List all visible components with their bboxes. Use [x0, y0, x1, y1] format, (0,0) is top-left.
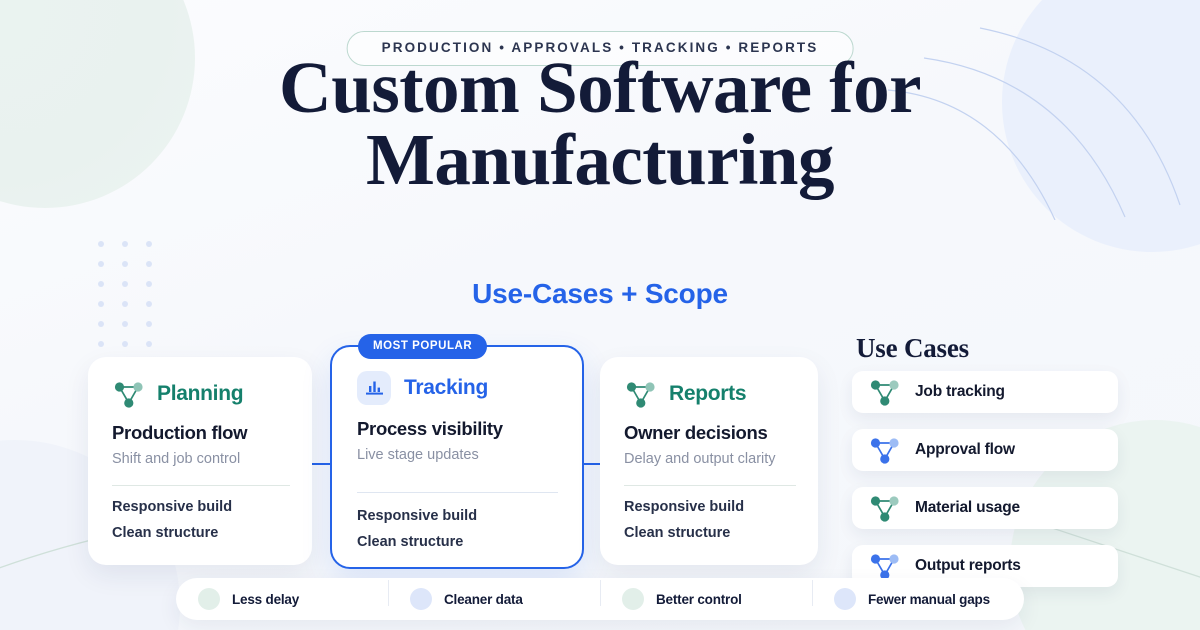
card-feature: Clean structure	[624, 525, 796, 541]
stage-card-reports[interactable]: Reports Owner decisions Delay and output…	[600, 357, 818, 565]
use-case-item-job-tracking[interactable]: Job tracking	[852, 371, 1118, 413]
card-subtitle-reports: Delay and output clarity	[624, 450, 796, 470]
benefit-dot	[410, 588, 432, 610]
use-case-label: Job tracking	[915, 383, 1005, 401]
use-case-label: Approval flow	[915, 441, 1015, 459]
use-case-item-approval-flow[interactable]: Approval flow	[852, 429, 1118, 471]
network-nodes-icon	[112, 379, 146, 409]
benefit-label: Cleaner data	[444, 592, 523, 607]
stage-card-tracking[interactable]: MOST POPULAR Tracking Process visibility…	[330, 345, 584, 569]
card-subtitle-planning: Shift and job control	[112, 450, 290, 470]
card-header-tracking: Tracking	[357, 371, 558, 405]
network-nodes-icon	[624, 379, 658, 409]
card-headline-tracking: Process visibility	[357, 418, 558, 440]
card-divider	[357, 492, 558, 493]
card-feature: Clean structure	[112, 525, 290, 541]
poster-canvas: PRODUCTION • APPROVALS • TRACKING • REPO…	[0, 0, 1200, 630]
card-title-reports: Reports	[669, 382, 746, 406]
card-divider	[112, 485, 290, 486]
page-title-line-2: Manufacturing	[366, 119, 834, 200]
card-header-planning: Planning	[112, 379, 290, 409]
benefit-item-less-delay[interactable]: Less delay	[176, 588, 388, 610]
benefit-item-better-control[interactable]: Better control	[600, 588, 812, 610]
network-nodes-icon	[868, 551, 902, 581]
section-heading: Use-Cases + Scope	[0, 278, 1200, 310]
benefit-dot	[198, 588, 220, 610]
most-popular-badge: MOST POPULAR	[358, 334, 487, 359]
benefit-label: Better control	[656, 592, 742, 607]
benefit-item-fewer-manual-gaps[interactable]: Fewer manual gaps	[812, 588, 1024, 610]
stage-card-planning[interactable]: Planning Production flow Shift and job c…	[88, 357, 312, 565]
network-nodes-icon	[868, 493, 902, 523]
benefit-dot	[834, 588, 856, 610]
network-nodes-icon	[868, 377, 902, 407]
use-case-label: Material usage	[915, 499, 1020, 517]
card-header-reports: Reports	[624, 379, 796, 409]
benefit-dot	[622, 588, 644, 610]
card-feature: Responsive build	[112, 499, 290, 515]
page-title: Custom Software for Manufacturing	[0, 52, 1200, 197]
benefit-item-cleaner-data[interactable]: Cleaner data	[388, 588, 600, 610]
card-feature: Responsive build	[357, 508, 558, 524]
card-feature: Clean structure	[357, 534, 558, 550]
use-case-label: Output reports	[915, 557, 1021, 575]
use-case-item-material-usage[interactable]: Material usage	[852, 487, 1118, 529]
card-divider	[624, 485, 796, 486]
network-nodes-icon	[868, 435, 902, 465]
benefit-label: Fewer manual gaps	[868, 592, 990, 607]
card-subtitle-tracking: Live stage updates	[357, 446, 558, 466]
benefits-bar: Less delay Cleaner data Better control F…	[176, 578, 1024, 620]
card-title-planning: Planning	[157, 382, 243, 406]
benefit-label: Less delay	[232, 592, 299, 607]
card-feature: Responsive build	[624, 499, 796, 515]
bar-chart-icon	[357, 371, 391, 405]
card-title-tracking: Tracking	[404, 376, 488, 400]
card-headline-planning: Production flow	[112, 422, 290, 444]
card-headline-reports: Owner decisions	[624, 422, 796, 444]
use-cases-title: Use Cases	[856, 333, 969, 364]
page-title-line-1: Custom Software for	[279, 47, 921, 128]
